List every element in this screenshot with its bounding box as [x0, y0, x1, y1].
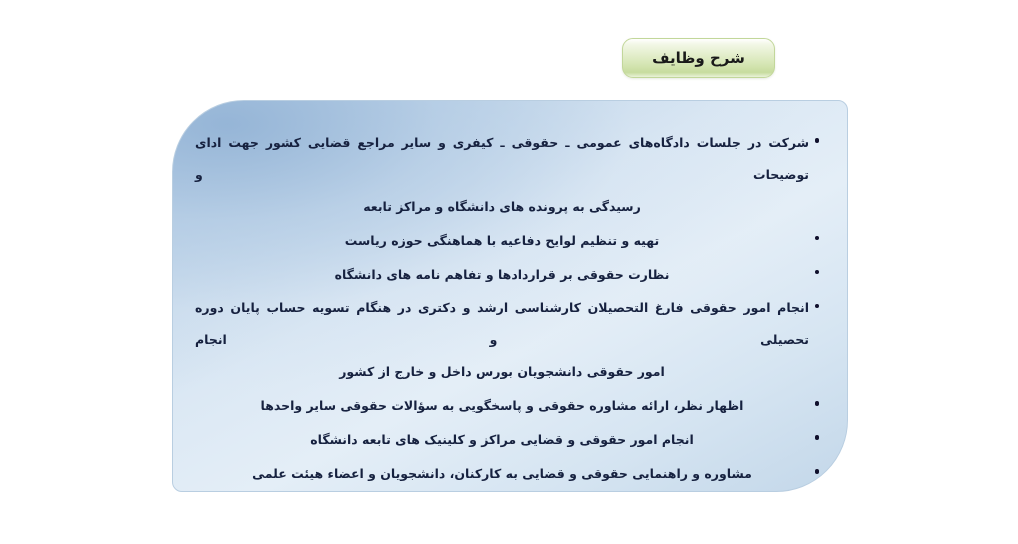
bullet-icon [809, 266, 825, 279]
duty-line: امور حقوقی دانشجویان بورس داخل و خارج از… [195, 356, 809, 388]
duties-panel: شرکت در جلسات دادگاه‌های عمومی ـ حقوقی ـ… [172, 100, 848, 492]
bullet-icon [809, 465, 825, 478]
duty-text: شرکت در جلسات دادگاه‌های عمومی ـ حقوقی ـ… [195, 127, 809, 223]
duty-line: رسیدگی به پرونده های دانشگاه و مراکز تاب… [195, 191, 809, 223]
list-item: اظهار نظر، ارائه مشاوره حقوقی و پاسخگویی… [195, 390, 825, 422]
duties-list: شرکت در جلسات دادگاه‌های عمومی ـ حقوقی ـ… [173, 101, 847, 491]
bullet-icon [809, 431, 825, 444]
list-item: انجام امور حقوقی و قضایی مراکز و کلینیک … [195, 424, 825, 456]
page-title: شرح وظایف [652, 51, 745, 66]
duty-text: نظارت حقوقی بر قراردادها و تفاهم نامه ها… [195, 259, 809, 291]
page-root: شرح وظایف شرکت در جلسات دادگاه‌های عمومی… [0, 0, 1018, 544]
bullet-icon [809, 397, 825, 410]
duty-text: انجام امور حقوقی و قضایی مراکز و کلینیک … [195, 424, 809, 456]
duty-line: شرکت در جلسات دادگاه‌های عمومی ـ حقوقی ـ… [195, 127, 809, 191]
duty-text: اظهار نظر، ارائه مشاوره حقوقی و پاسخگویی… [195, 390, 809, 422]
bullet-icon [809, 299, 825, 312]
list-item: انجام امور حقوقی فارغ التحصیلان کارشناسی… [195, 292, 825, 388]
page-title-tab: شرح وظایف [622, 38, 775, 78]
duty-text: مشاوره و راهنمایی حقوقی و قضایی به کارکن… [195, 458, 809, 490]
bullet-icon [809, 232, 825, 245]
duty-text: تهیه و تنظیم لوایح دفاعیه با هماهنگی حوز… [195, 225, 809, 257]
duty-line: انجام امور حقوقی فارغ التحصیلان کارشناسی… [195, 292, 809, 356]
list-item: تهیه و تنظیم لوایح دفاعیه با هماهنگی حوز… [195, 225, 825, 257]
bullet-icon [809, 134, 825, 147]
list-item: نظارت حقوقی بر قراردادها و تفاهم نامه ها… [195, 259, 825, 291]
list-item: شرکت در جلسات دادگاه‌های عمومی ـ حقوقی ـ… [195, 127, 825, 223]
duty-text: انجام امور حقوقی فارغ التحصیلان کارشناسی… [195, 292, 809, 388]
list-item: مشاوره و راهنمایی حقوقی و قضایی به کارکن… [195, 458, 825, 490]
